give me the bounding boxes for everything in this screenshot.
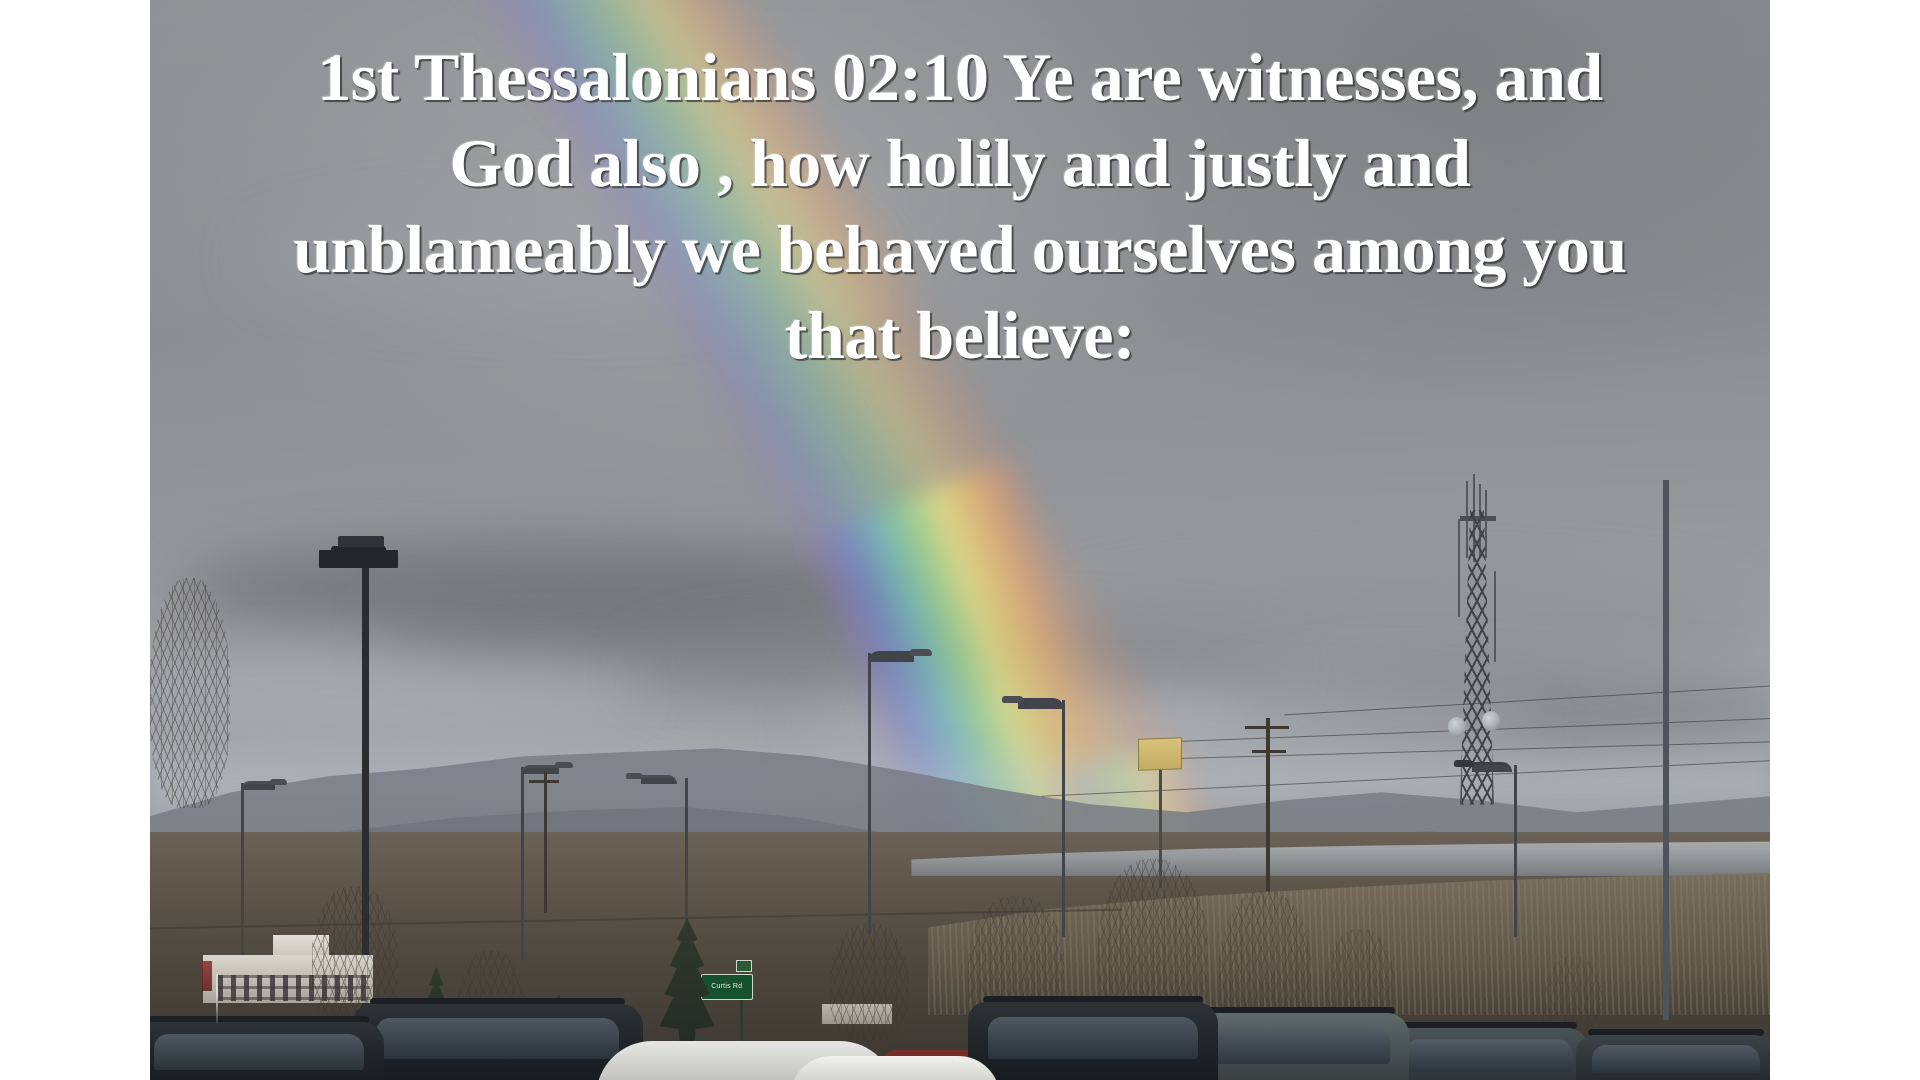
street-light-post xyxy=(1514,765,1517,938)
parked-car xyxy=(1576,1035,1770,1080)
parked-car xyxy=(1389,1028,1589,1080)
street-light-arm xyxy=(868,651,914,662)
street-light-arm xyxy=(1472,762,1512,772)
car-body xyxy=(790,1056,1000,1080)
car-window xyxy=(154,1034,364,1070)
street-light-arm xyxy=(641,775,677,784)
highway-light-mast-post xyxy=(1663,480,1669,1020)
street-light-lamp xyxy=(910,649,932,656)
bare-tree xyxy=(150,578,230,808)
utility-crossarm xyxy=(1245,726,1289,729)
bare-tree xyxy=(830,923,908,1045)
car-window xyxy=(1405,1039,1573,1071)
tower-antenna xyxy=(1494,571,1496,662)
street-light-post xyxy=(241,783,244,967)
parking-lot-light-head xyxy=(331,546,386,568)
parked-car xyxy=(790,1056,1000,1080)
route-shield-icon xyxy=(736,960,752,972)
tower-antenna xyxy=(1485,490,1487,558)
street-light-lamp xyxy=(555,762,573,768)
street-light-post xyxy=(521,767,524,961)
bible-verse-text: 1st Thessalonians 02:10 Ye are witnesses… xyxy=(150,34,1770,378)
car-window xyxy=(376,1018,620,1058)
car-antenna-flag xyxy=(202,961,212,991)
parked-car xyxy=(968,1002,1218,1080)
slide-canvas: Curtis Rd xyxy=(0,0,1920,1080)
highway-sign-label: Curtis Rd xyxy=(701,983,753,991)
utility-crossarm xyxy=(1252,750,1286,753)
street-light-lamp xyxy=(270,779,287,785)
utility-pole xyxy=(1266,718,1270,891)
street-light-post xyxy=(868,653,871,934)
street-light-lamp xyxy=(1454,760,1474,767)
car-window xyxy=(988,1017,1198,1059)
yellow-sign xyxy=(1138,737,1182,771)
utility-pole xyxy=(544,772,547,912)
street-light-lamp xyxy=(626,773,643,779)
street-light-post xyxy=(1062,700,1065,938)
parked-car xyxy=(150,1022,384,1080)
street-light-arm xyxy=(521,765,559,774)
communication-tower xyxy=(1446,481,1508,805)
car-antenna xyxy=(216,974,218,1026)
parking-lot-light-head-top xyxy=(338,536,384,547)
microwave-dish-icon xyxy=(1482,711,1500,731)
street-light-lamp xyxy=(1002,696,1024,703)
street-light-arm xyxy=(1018,698,1064,709)
car-window xyxy=(1197,1026,1390,1064)
car-window xyxy=(1592,1045,1760,1074)
tower-antenna xyxy=(1458,519,1460,616)
microwave-dish-icon xyxy=(1448,717,1466,737)
utility-crossarm xyxy=(529,780,559,783)
